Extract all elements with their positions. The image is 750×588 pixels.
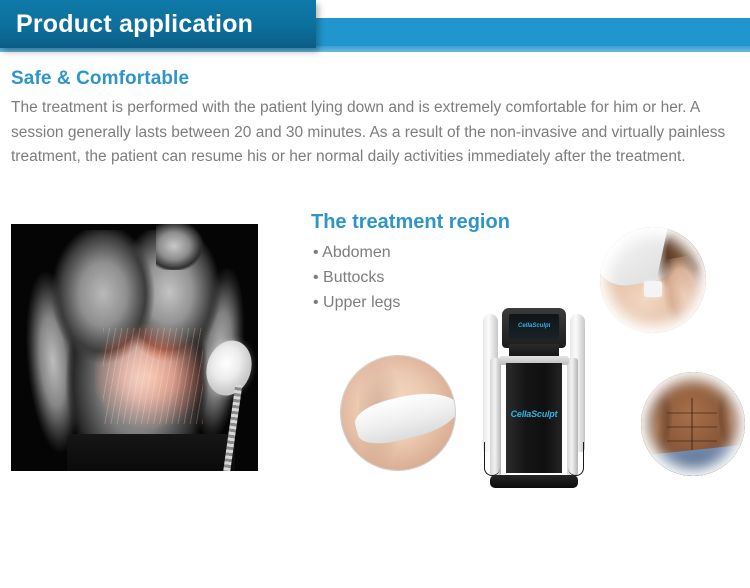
header-tab: Product application bbox=[0, 0, 316, 48]
list-item: Upper legs bbox=[313, 290, 400, 315]
section-subheading: Safe & Comfortable bbox=[11, 68, 189, 90]
list-item: Abdomen bbox=[313, 240, 400, 265]
machine-base bbox=[490, 475, 578, 488]
circle-vignette bbox=[641, 372, 745, 476]
machine-screen-housing: CellaSculpt bbox=[502, 308, 566, 348]
machine-screen-logo: CellaSculpt bbox=[518, 322, 550, 330]
machine-cable-left bbox=[484, 442, 500, 476]
machine-body: CellaSculpt bbox=[506, 363, 562, 473]
product-application-page: Product application Safe & Comfortable T… bbox=[0, 0, 750, 588]
list-item: Buttocks bbox=[313, 265, 400, 290]
hero-muscle-fibers bbox=[103, 328, 203, 424]
machine-device-photo: CellaSculpt CellaSculpt bbox=[478, 300, 590, 488]
treatment-region-title: The treatment region bbox=[311, 211, 510, 234]
hero-treatment-photo bbox=[11, 224, 258, 471]
page-title: Product application bbox=[16, 7, 253, 41]
hero-shorts bbox=[67, 434, 235, 471]
circle-vignette bbox=[600, 227, 706, 333]
circle-photo-male-abs bbox=[641, 372, 745, 476]
circle-photo-abdomen bbox=[600, 227, 706, 333]
circle-photo-buttocks bbox=[340, 355, 456, 471]
intro-paragraph: The treatment is performed with the pati… bbox=[11, 96, 739, 170]
machine-brand-label: CellaSculpt bbox=[506, 409, 562, 419]
treatment-region-list: Abdomen Buttocks Upper legs bbox=[313, 240, 400, 315]
machine-screen: CellaSculpt bbox=[509, 314, 559, 339]
machine-cable-right bbox=[568, 442, 584, 476]
hero-head bbox=[156, 224, 208, 270]
